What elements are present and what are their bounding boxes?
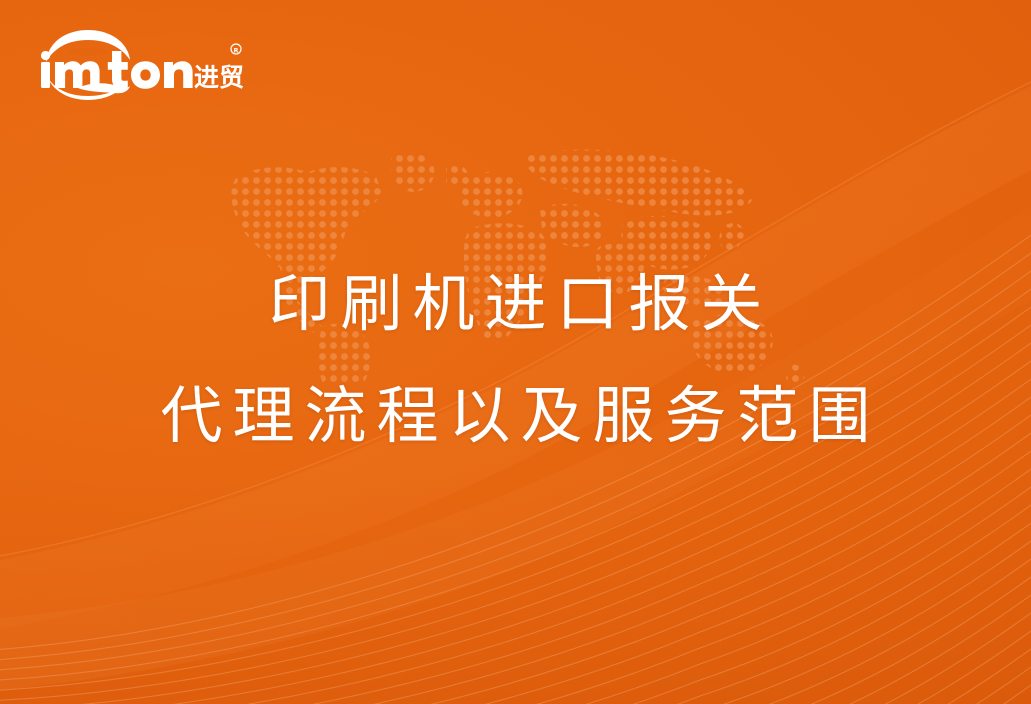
headline-block: 印刷机进口报关 代理流程以及服务范围 — [0, 262, 1031, 458]
logo-wordmark — [41, 51, 193, 89]
svg-text:R: R — [233, 47, 238, 55]
registered-trademark-icon: R — [231, 44, 241, 55]
headline-line-1: 印刷机进口报关 — [0, 262, 1031, 346]
imton-logo[interactable]: 进贸通 R — [38, 26, 243, 104]
banner-root: 进贸通 R 印刷机进口报关 代理流程以及服务范围 — [0, 0, 1031, 704]
logo-chinese-name: 进贸通 — [194, 63, 243, 92]
headline-line-2: 代理流程以及服务范围 — [0, 374, 1031, 458]
